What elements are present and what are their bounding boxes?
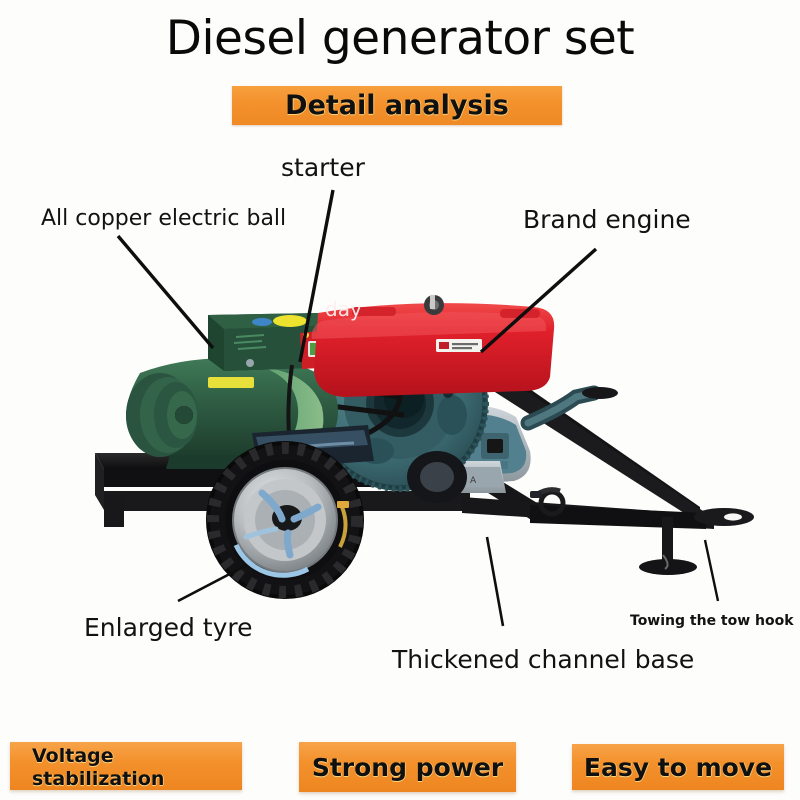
- tank-decal-text: day: [325, 297, 362, 321]
- feature-banner-voltage-stabilization: Voltage stabilization: [10, 742, 242, 790]
- fuel-tank: day: [312, 295, 554, 397]
- callout-label-towing-the-tow-hook: Towing the tow hook: [630, 612, 794, 630]
- callout-label-thickened-channel-base: Thickened channel base: [392, 645, 694, 675]
- callout-label-all-copper-electric-ball: All copper electric ball: [41, 205, 286, 232]
- feature-banner-easy-to-move-label: Easy to move: [572, 744, 784, 790]
- poster-canvas: Diesel generator set Detail analysis: [0, 0, 800, 800]
- product-photo: A: [0, 255, 800, 600]
- callout-label-starter: starter: [281, 153, 365, 183]
- generator-illustration: A: [0, 255, 800, 600]
- feature-banner-strong-power: Strong power: [299, 742, 516, 792]
- subtitle-banner: Detail analysis: [232, 86, 562, 125]
- svg-text:A: A: [470, 476, 477, 486]
- feature-banner-easy-to-move: Easy to move: [572, 744, 784, 790]
- feature-banner-voltage-stabilization-label: Voltage stabilization: [10, 742, 242, 790]
- feature-banner-strong-power-label: Strong power: [299, 742, 516, 792]
- callout-label-brand-engine: Brand engine: [523, 205, 691, 235]
- tyre: [208, 443, 362, 597]
- callout-label-enlarged-tyre: Enlarged tyre: [84, 613, 253, 643]
- rear-wheel: [407, 451, 467, 503]
- subtitle-banner-label: Detail analysis: [232, 86, 562, 125]
- page-title: Diesel generator set: [0, 10, 800, 68]
